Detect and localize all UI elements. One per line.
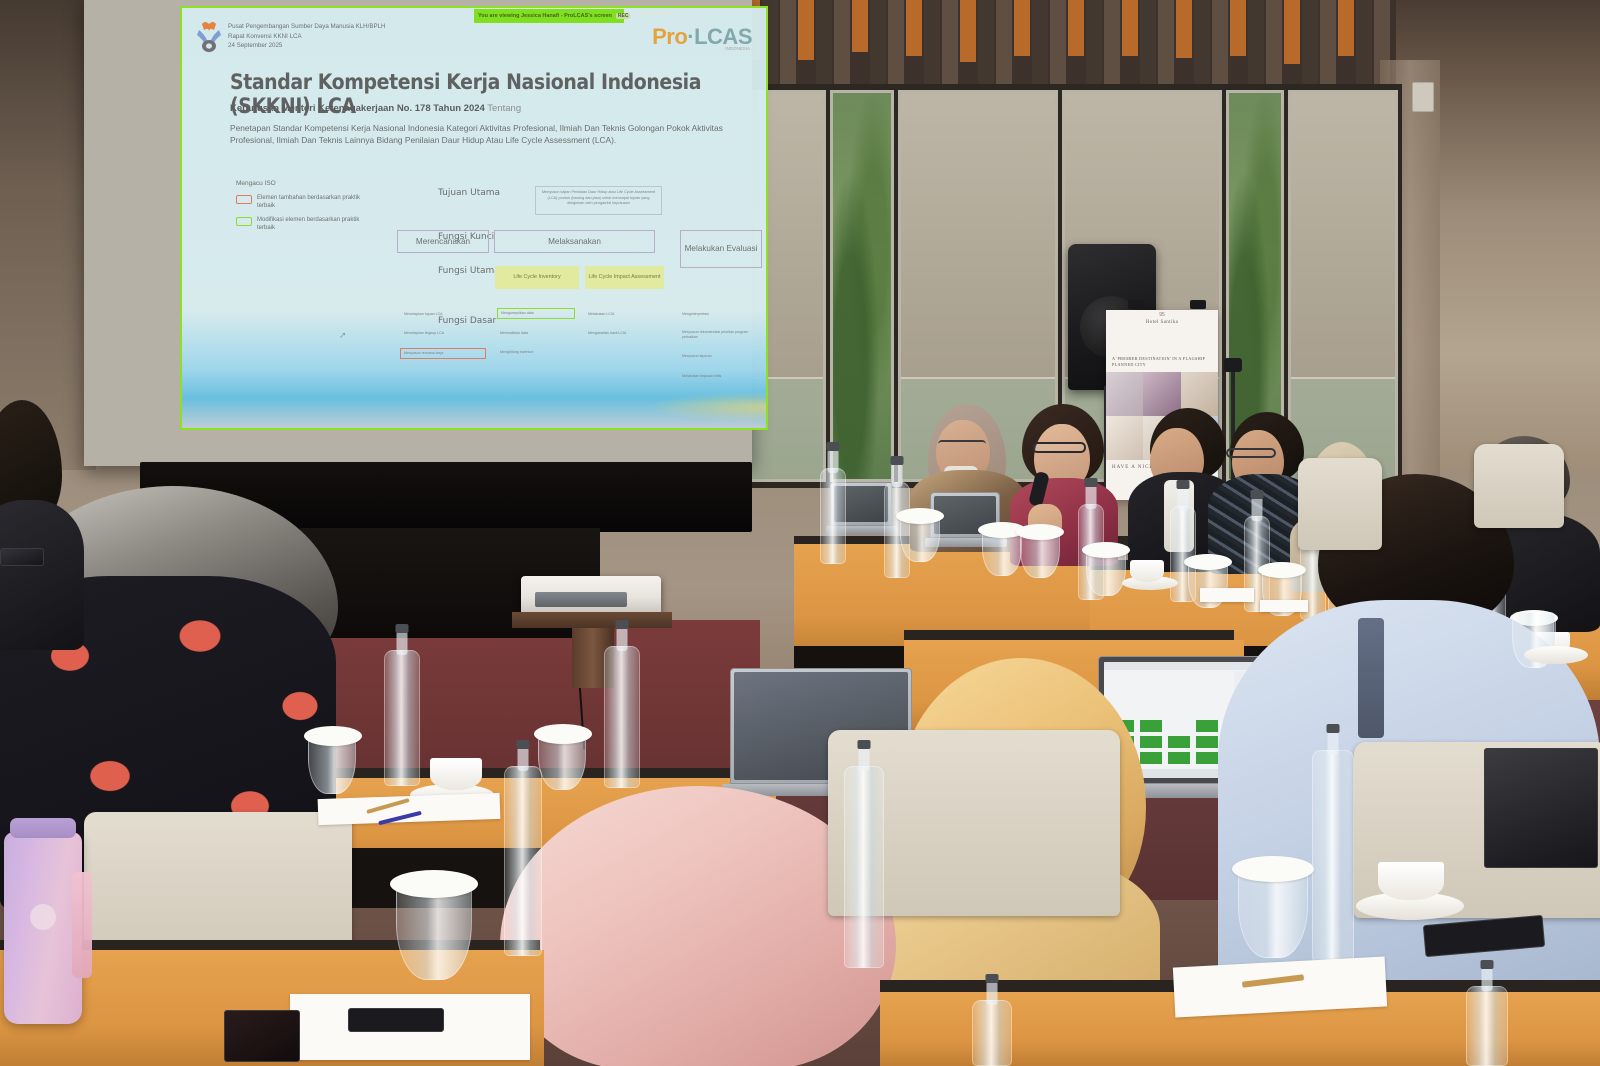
coffee-cup[interactable] — [1130, 560, 1164, 582]
laptop-foreground-right[interactable] — [1484, 748, 1598, 868]
prolcas-logo-pro: Pro — [652, 24, 687, 49]
glass-cover-doily — [390, 870, 478, 898]
chair-back-far-right[interactable] — [1474, 444, 1564, 528]
water-bottle[interactable] — [1312, 750, 1354, 962]
fungsi-dasar-evaluasi-1: Menginterpretasi — [682, 312, 758, 317]
necktie — [1358, 618, 1384, 738]
legend-swatch-red-icon — [236, 195, 252, 204]
fungsi-kunci-melaksanakan: Melaksanakan — [494, 230, 655, 253]
fungsi-dasar-lcia-2: Menganalisis hasil LCIA — [588, 331, 668, 336]
glass-cover-doily — [1016, 524, 1064, 540]
prolcas-logo-sub: INDONESIA — [725, 46, 750, 51]
folded-batik-cloth — [224, 1010, 300, 1062]
fungsi-dasar-lci-2: Memvalidasi data — [500, 331, 578, 336]
tumbler-logo — [30, 904, 56, 930]
glass-cover-doily — [1258, 562, 1306, 578]
water-bottle[interactable] — [604, 646, 640, 788]
hotel-brand-mark: 95 — [1159, 312, 1165, 318]
left-wall — [0, 0, 96, 470]
poster-clip-left — [1128, 300, 1144, 309]
wall-slat-decor-band — [726, 0, 1400, 86]
notepad[interactable] — [1200, 588, 1254, 602]
tujuan-utama-box: Menyusun kajian Penilaian Daur Hidup ata… — [535, 186, 662, 215]
slide-subtitle-strong: Keputusan Menteri Ketenagakerjaan No. 17… — [230, 103, 485, 114]
glass-cover-doily — [896, 508, 944, 524]
water-bottle[interactable] — [844, 766, 884, 968]
slide-subtitle-light: Tentang — [487, 103, 521, 114]
projection-screen: Pusat Pengembangan Sumber Daya Manusia K… — [84, 0, 752, 466]
water-bottle[interactable] — [504, 766, 542, 956]
screen-share-green-border: Pusat Pengembangan Sumber Daya Manusia K… — [180, 6, 768, 430]
coffee-cup[interactable] — [1378, 862, 1444, 900]
hotel-tagline: A 'PREMIER DESTINATION' IN A FLAGSHIP PL… — [1112, 356, 1212, 369]
wall-switch-plate[interactable] — [1412, 82, 1434, 112]
recording-badge: REC — [616, 13, 631, 19]
view-options-button[interactable]: View Options ∧ — [638, 10, 682, 17]
fungsi-dasar-merencanakan-2: Menetapkan lingkup LCA — [404, 331, 484, 336]
fungsi-dasar-lci-1: Mengumpulkan data — [497, 308, 575, 319]
poster-clip-right — [1190, 300, 1206, 309]
fungsi-dasar-evaluasi-4: Melakukan tinjauan kritis — [682, 374, 762, 379]
glass-cover-doily — [534, 724, 592, 744]
fungsi-kunci-melakukan-evaluasi: Melakukan Evaluasi — [680, 230, 762, 268]
fungsi-dasar-lci-3: Menghitung inventori — [500, 350, 578, 355]
eyeglasses-icon — [1032, 442, 1086, 453]
notepad[interactable] — [1260, 600, 1308, 612]
slide-body-text: Penetapan Standar Kompetensi Kerja Nasio… — [230, 122, 750, 146]
purple-tumbler-bottle[interactable] — [4, 832, 82, 1024]
slide-header-org1: Pusat Pengembangan Sumber Daya Manusia K… — [228, 22, 386, 32]
slide-header-date: 24 September 2025 — [228, 41, 386, 51]
projector-icon — [521, 576, 661, 614]
glass-cover-doily — [1232, 856, 1314, 882]
water-bottle[interactable] — [820, 468, 846, 564]
tumbler-lid — [10, 818, 76, 838]
slide-header-org2: Rapat Konvensi KKNI LCA — [228, 32, 386, 42]
legend-label-red: Elemen tambahan berdasarkan praktik terb… — [257, 194, 376, 210]
fungsi-dasar-lcia-1: Melakukan LCIA — [588, 312, 666, 317]
mouse-cursor-icon: ➚ — [339, 330, 347, 341]
view-options-label: View Options — [638, 11, 676, 17]
fungsi-dasar-merencanakan-3: Menyusun rencana kerja — [400, 348, 486, 359]
coffee-cup[interactable] — [430, 758, 482, 790]
slide-subtitle: Keputusan Menteri Ketenagakerjaan No. 17… — [230, 103, 521, 114]
legend-title: Mengacu ISO — [236, 180, 376, 187]
row-label-fungsi-utama: Fungsi Utama — [438, 266, 500, 276]
device-edge-left[interactable] — [0, 548, 44, 566]
projector-table — [512, 612, 672, 628]
projector-ports — [535, 592, 627, 607]
glass-cover-doily — [1184, 554, 1232, 570]
glass-cover-doily — [1082, 542, 1130, 558]
fungsi-kunci-merencanakan: Merencanakan — [397, 230, 489, 253]
saucer — [1524, 646, 1588, 664]
legend-swatch-green-icon — [236, 217, 252, 226]
screen-share-viewing-text: You are viewing Jessica Hanafi - ProLCAS… — [478, 13, 612, 19]
glass-cover-doily — [304, 726, 362, 746]
fungsi-utama-life-cycle-inventory: Life Cycle Inventory — [495, 266, 579, 289]
smartphone-icon[interactable] — [348, 1008, 444, 1032]
slide-glow — [646, 392, 766, 422]
water-bottle[interactable] — [384, 650, 420, 786]
water-bottle[interactable] — [1466, 986, 1508, 1066]
fungsi-utama-life-cycle-impact-assessment: Life Cycle Impact Assessment — [585, 266, 664, 289]
fungsi-dasar-merencanakan-1: Menetapkan tujuan LCA — [404, 312, 484, 317]
row-label-tujuan-utama: Tujuan Utama — [438, 188, 500, 198]
row-label-fungsi-dasar: Fungsi Dasar — [438, 316, 496, 326]
legend-label-green: Modifikasi elemen berdasarkan praktik te… — [257, 216, 376, 232]
screen-share-banner: You are viewing Jessica Hanafi - ProLCAS… — [474, 9, 624, 23]
conference-room-photo: 95 Hotel Santika A 'PREMIER DESTINATION'… — [0, 0, 1600, 1066]
microphone-icon — [1224, 358, 1242, 372]
legend-item-red: Elemen tambahan berdasarkan praktik terb… — [236, 194, 376, 210]
tumbler-strap — [72, 872, 92, 978]
legend-item-green: Modifikasi elemen berdasarkan praktik te… — [236, 216, 376, 232]
fungsi-dasar-evaluasi-3: Menyusun laporan — [682, 354, 758, 359]
ministry-logo-icon — [194, 20, 224, 54]
slide-legend: Mengacu ISO Elemen tambahan berdasarkan … — [236, 180, 376, 238]
chair-back-right[interactable] — [1298, 458, 1382, 550]
hotel-brand-name: Hotel Santika — [1106, 320, 1218, 325]
presentation-slide: Pusat Pengembangan Sumber Daya Manusia K… — [182, 8, 766, 428]
eyeglasses-icon — [938, 440, 986, 449]
fungsi-dasar-evaluasi-2: Menyusun rekomendasi prioritas program p… — [682, 330, 762, 340]
water-bottle[interactable] — [972, 1000, 1012, 1066]
slide-header-text: Pusat Pengembangan Sumber Daya Manusia K… — [228, 22, 386, 51]
eyeglasses-icon — [1226, 448, 1276, 458]
